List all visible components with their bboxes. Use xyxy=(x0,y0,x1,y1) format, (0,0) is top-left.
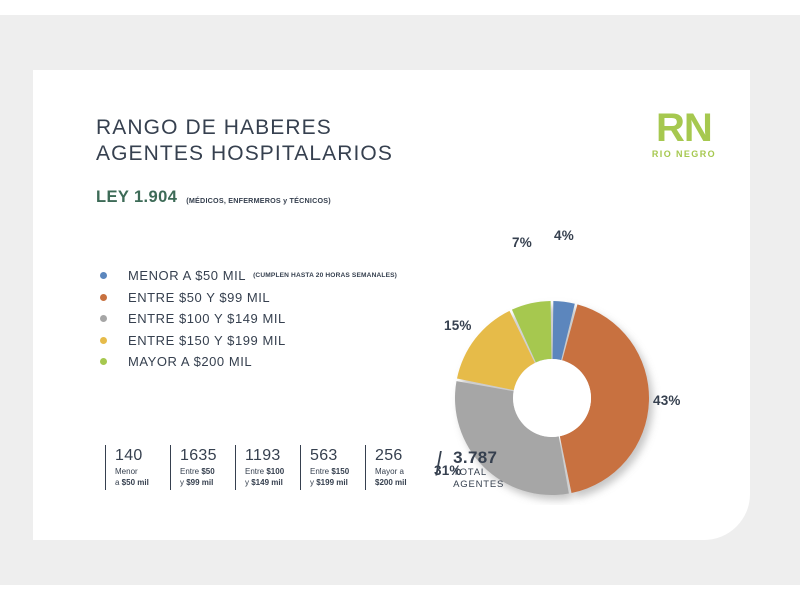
stat-number: 140 xyxy=(115,447,161,465)
stat-desc-line2-bold: $200 mil xyxy=(375,478,407,487)
infographic-card: RANGO DE HABERES AGENTES HOSPITALARIOS L… xyxy=(33,70,750,540)
legend-item-mayor-200: MAYOR A $200 MIL xyxy=(100,351,397,372)
stat-desc-line1: Entre xyxy=(310,467,331,476)
legend-swatch-icon xyxy=(100,315,107,322)
stats-strip: 140 Menora $50 mil 1635 Entre $50y $99 m… xyxy=(105,445,504,490)
slash-separator-icon: / xyxy=(435,447,441,480)
legend-item-label: ENTRE $50 Y $99 MIL xyxy=(128,290,270,305)
legend-item-label: MAYOR A $200 MIL xyxy=(128,354,252,369)
chart-legend: MENOR A $50 MIL (CUMPLEN HASTA 20 HORAS … xyxy=(100,265,397,373)
donut-hole xyxy=(513,359,591,437)
legend-swatch-icon xyxy=(100,272,107,279)
stat-desc-line1: Entre xyxy=(245,467,266,476)
page-background: RANGO DE HABERES AGENTES HOSPITALARIOS L… xyxy=(0,15,800,585)
legend-swatch-icon xyxy=(100,294,107,301)
legend-item-150-199: ENTRE $150 Y $199 MIL xyxy=(100,330,397,351)
legend-item-label: MENOR A $50 MIL xyxy=(128,268,246,283)
stat-desc-line2-plain: a xyxy=(115,478,122,487)
stat-number: 256 xyxy=(375,447,421,465)
stat-cell-150-199: 563 Entre $150y $199 mil xyxy=(300,445,356,490)
stat-desc-line1-bold: $100 xyxy=(266,467,284,476)
stat-description: Menora $50 mil xyxy=(115,467,161,488)
legend-item-100-149: ENTRE $100 Y $149 MIL xyxy=(100,308,397,329)
stat-desc-line2-bold: $50 mil xyxy=(122,478,149,487)
stat-desc-line1: Mayor a xyxy=(375,467,404,476)
stat-cell-menor-50: 140 Menora $50 mil xyxy=(105,445,161,490)
stat-desc-line1-bold: $50 xyxy=(201,467,214,476)
stat-desc-line1: Menor xyxy=(115,467,138,476)
title-line-2: AGENTES HOSPITALARIOS xyxy=(96,141,393,167)
stat-cell-100-149: 1193 Entre $100y $149 mil xyxy=(235,445,291,490)
logo-subtitle: RIO NEGRO xyxy=(652,149,716,159)
stat-description: Entre $100y $149 mil xyxy=(245,467,291,488)
legend-item-50-99: ENTRE $50 Y $99 MIL xyxy=(100,287,397,308)
total-agents-block: 3.787 TOTAL AGENTES xyxy=(453,445,504,490)
stat-description: Mayor a$200 mil xyxy=(375,467,421,488)
pct-label-43: 43% xyxy=(653,393,681,408)
stat-desc-line1: Entre xyxy=(180,467,201,476)
stat-number: 563 xyxy=(310,447,356,465)
page-title: RANGO DE HABERES AGENTES HOSPITALARIOS xyxy=(96,115,393,167)
legend-item-note: (CUMPLEN HASTA 20 HORAS SEMANALES) xyxy=(253,272,397,279)
pct-label-4: 4% xyxy=(554,228,574,243)
total-number: 3.787 xyxy=(453,448,504,467)
pct-label-15: 15% xyxy=(444,318,472,333)
legend-item-label: ENTRE $150 Y $199 MIL xyxy=(128,333,286,348)
stat-desc-line2-bold: $199 mil xyxy=(316,478,348,487)
legend-item-menor-50: MENOR A $50 MIL (CUMPLEN HASTA 20 HORAS … xyxy=(100,265,397,286)
logo-mark-icon: RN xyxy=(652,108,716,148)
rio-negro-logo: RN RIO NEGRO xyxy=(652,108,716,159)
stat-description: Entre $50y $99 mil xyxy=(180,467,226,488)
stat-number: 1193 xyxy=(245,447,291,465)
stat-desc-line2-bold: $149 mil xyxy=(251,478,283,487)
stat-cell-mayor-200: 256 Mayor a$200 mil xyxy=(365,445,421,490)
legend-swatch-icon xyxy=(100,337,107,344)
stat-desc-line1-bold: $150 xyxy=(331,467,349,476)
total-label-line1: TOTAL xyxy=(453,467,504,479)
legend-item-label: ENTRE $100 Y $149 MIL xyxy=(128,311,286,326)
law-reference: LEY 1.904 (MÉDICOS, ENFERMEROS y TÉCNICO… xyxy=(96,188,331,207)
legend-swatch-icon xyxy=(100,358,107,365)
stat-description: Entre $150y $199 mil xyxy=(310,467,356,488)
law-label: LEY 1.904 xyxy=(96,188,177,207)
title-line-1: RANGO DE HABERES xyxy=(96,115,393,141)
law-note: (MÉDICOS, ENFERMEROS y TÉCNICOS) xyxy=(186,196,331,207)
stat-cell-50-99: 1635 Entre $50y $99 mil xyxy=(170,445,226,490)
stat-desc-line2-bold: $99 mil xyxy=(186,478,213,487)
total-label-line2: AGENTES xyxy=(453,479,504,491)
pct-label-7: 7% xyxy=(512,235,532,250)
stat-number: 1635 xyxy=(180,447,226,465)
